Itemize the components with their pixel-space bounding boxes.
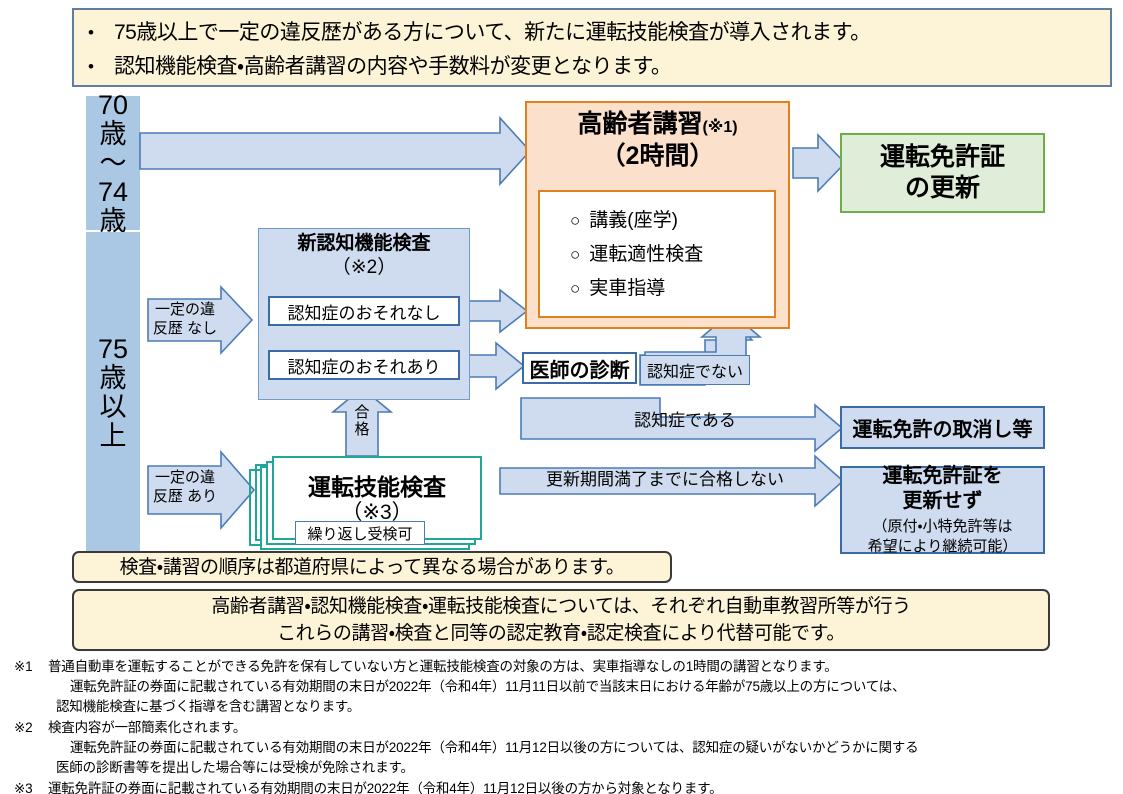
footnote-1-line-1: 普通自動車を運転することができる免許を保有していない方と運転技能検査の対象の方は… [48,657,1114,677]
footnote-2-line-3: 医師の診断書等を提出した場合等には受検が免除されます。 [48,758,1114,778]
license-revocation-label: 運転免許の取消し等 [853,413,1033,442]
course-item-1-label: 講義(座学) [589,204,678,238]
circle-bullet-icon: ○ [570,204,580,238]
age-band-75-plus: 75 歳 以 上 [86,232,140,554]
circle-bullet-icon: ○ [570,272,580,306]
cognitive-result-risk[interactable]: 認知症のおそれあり [268,350,460,380]
elderly-course-items: ○ 講義(座学) ○ 運転適性検査 ○ 実車指導 [538,190,776,318]
no-renewal-box: 運転免許証を 更新せず （原付・小特免許等は 希望により継続可能） [840,466,1045,554]
footnote-3-body: 運転免許証の券面に記載されている有効期間の末日が2022年（令和4年）11月12… [48,779,1114,794]
top-notice-line-1: • 75歳以上で一定の違反歴がある方について、新たに運転技能検査が導入されます。 [88,16,1100,50]
arrow-age70-to-course [140,118,530,184]
license-renewal-label: 運転免許証 の更新 [880,142,1005,204]
bullet-icon: • [88,16,114,50]
footnote-2-line-2: 運転免許証の券面に記載されている有効期間の末日が2022年（令和4年）11月12… [48,738,1114,758]
footnote-1: ※1 普通自動車を運転することができる免許を保有していない方と運転技能検査の対象… [14,657,1114,717]
course-item-2: ○ 運転適性検査 [570,238,774,272]
notice-order-text: 検査・講習の順序は都道府県によって異なる場合があります。 [120,554,625,581]
elderly-course-hours: （2時間） [525,140,790,172]
footnote-3-mark: ※3 [14,779,48,794]
footnote-2-line-1: 検査内容が一部簡素化されます。 [48,718,1114,738]
top-notice-line-2: • 認知機能検査・高齢者講習の内容や手数料が変更となります。 [88,50,1100,84]
bullet-icon: • [88,50,114,84]
footnotes: ※1 普通自動車を運転することができる免許を保有していない方と運転技能検査の対象… [14,657,1114,794]
doctor-diagnosis-label: 医師の診断 [530,354,630,383]
footnote-3-line-1: 運転免許証の券面に記載されている有効期間の末日が2022年（令和4年）11月12… [48,779,1114,794]
no-renewal-sub-label: （原付・小特免許等は 希望により継続可能） [868,517,1018,557]
footnote-2-body: 検査内容が一部簡素化されます。 運転免許証の券面に記載されている有効期間の末日が… [48,718,1114,778]
top-notice-text-1: 75歳以上で一定の違反歴がある方について、新たに運転技能検査が導入されます。 [114,16,871,50]
course-item-2-label: 運転適性検査 [589,238,703,272]
footnote-3: ※3 運転免許証の券面に記載されている有効期間の末日が2022年（令和4年）11… [14,779,1114,794]
course-item-3-label: 実車指導 [589,272,665,306]
course-item-1: ○ 講義(座学) [570,204,774,238]
footnote-1-line-3: 認知機能検査に基づく指導を含む講習となります。 [48,697,1114,717]
arrow-label-is-dementia: 認知症である [560,411,810,430]
arrow-label-pass: 合 格 [349,404,375,438]
cognitive-test-note: （※2） [258,256,470,280]
diagram-page: • 75歳以上で一定の違反歴がある方について、新たに運転技能検査が導入されます。… [0,0,1123,794]
course-item-3: ○ 実車指導 [570,272,774,306]
no-renewal-main-label: 運転免許証を 更新せず [883,464,1003,514]
arrow-label-fail-expiry: 更新期間満了までに合格しない [520,470,810,489]
top-notice-text-2: 認知機能検査・高齢者講習の内容や手数料が変更となります。 [114,50,671,84]
elderly-course-title-main: 高齢者講習 [577,110,702,138]
footnote-2: ※2 検査内容が一部簡素化されます。 運転免許証の券面に記載されている有効期間の… [14,718,1114,778]
elderly-course-title-note: (※1) [702,119,737,136]
footnote-1-mark: ※1 [14,657,48,717]
arrow-label-no-violation: 一定の違反歴 なし [151,300,219,338]
elderly-course-title: 高齢者講習(※1) [525,108,790,144]
label-repeat-test: 繰り返し受検可 [295,521,425,545]
label-not-dementia: 認知症でない [640,355,750,385]
top-notice-box: • 75歳以上で一定の違反歴がある方について、新たに運転技能検査が導入されます。… [72,8,1112,87]
cognitive-result-no-risk-label: 認知症のおそれなし [288,299,441,324]
age-band-70-74-label: 70 歳 〜 74 歳 [98,91,128,236]
arrow-course-to-renewal [793,135,845,191]
circle-bullet-icon: ○ [570,238,580,272]
cognitive-test-title: 新認知機能検査 [258,232,470,256]
doctor-diagnosis-box[interactable]: 医師の診断 [522,352,637,384]
arrow-norisk-to-course [460,290,527,332]
footnote-1-line-2: 運転免許証の券面に記載されている有効期間の末日が2022年（令和4年）11月11… [48,677,1114,697]
arrow-label-has-violation: 一定の違反歴 あり [151,468,219,506]
notice-alternative-line-2: これらの講習・検査と同等の認定教育・認定検査により代替可能です。 [277,620,845,647]
notice-alternative-line-1: 高齢者講習・認知機能検査・運転技能検査については、それぞれ自動車教習所等が行う [211,593,910,620]
age-band-70-74: 70 歳 〜 74 歳 [86,96,140,230]
license-renewal-box: 運転免許証 の更新 [840,133,1045,213]
cognitive-result-risk-label: 認知症のおそれあり [288,353,441,378]
license-revocation-box: 運転免許の取消し等 [840,406,1045,449]
cognitive-result-no-risk[interactable]: 認知症のおそれなし [268,296,460,326]
skill-test-title: 運転技能検査 [272,473,482,501]
notice-alternative: 高齢者講習・認知機能検査・運転技能検査については、それぞれ自動車教習所等が行う … [72,589,1050,651]
footnote-2-mark: ※2 [14,718,48,778]
age-band-75-plus-label: 75 歳 以 上 [98,335,128,451]
notice-order-varies: 検査・講習の順序は都道府県によって異なる場合があります。 [72,551,672,583]
footnote-1-body: 普通自動車を運転することができる免許を保有していない方と運転技能検査の対象の方は… [48,657,1114,717]
